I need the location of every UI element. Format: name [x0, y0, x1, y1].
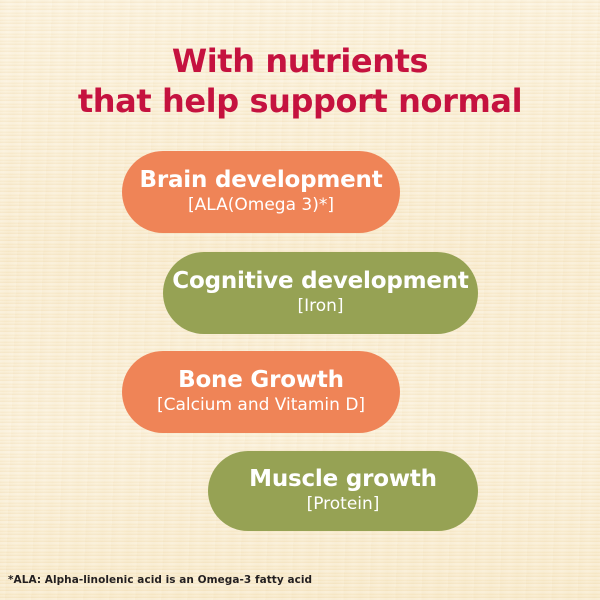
title-line-1: With nutrients [0, 44, 600, 80]
benefit-pill-muscle-growth: Muscle growth [Protein] [208, 451, 478, 531]
infographic-canvas: With nutrients that help support normal … [0, 0, 600, 600]
benefit-title: Cognitive development [172, 269, 468, 294]
page-title: With nutrients that help support normal [0, 44, 600, 120]
benefit-title: Muscle growth [249, 467, 437, 492]
title-line-2: that help support normal [0, 84, 600, 120]
benefit-nutrient: [Calcium and Vitamin D] [157, 396, 365, 416]
benefit-pill-cognitive-development: Cognitive development [Iron] [163, 252, 478, 334]
benefit-title: Bone Growth [178, 368, 344, 393]
benefit-nutrient: [Protein] [307, 495, 380, 515]
footnote-text: *ALA: Alpha-linolenic acid is an Omega-3… [8, 574, 312, 586]
benefit-pill-bone-growth: Bone Growth [Calcium and Vitamin D] [122, 351, 400, 433]
benefit-nutrient: [ALA(Omega 3)*] [188, 196, 334, 216]
benefit-nutrient: [Iron] [297, 297, 343, 317]
benefit-title: Brain development [140, 168, 383, 193]
benefit-pill-brain-development: Brain development [ALA(Omega 3)*] [122, 151, 400, 233]
